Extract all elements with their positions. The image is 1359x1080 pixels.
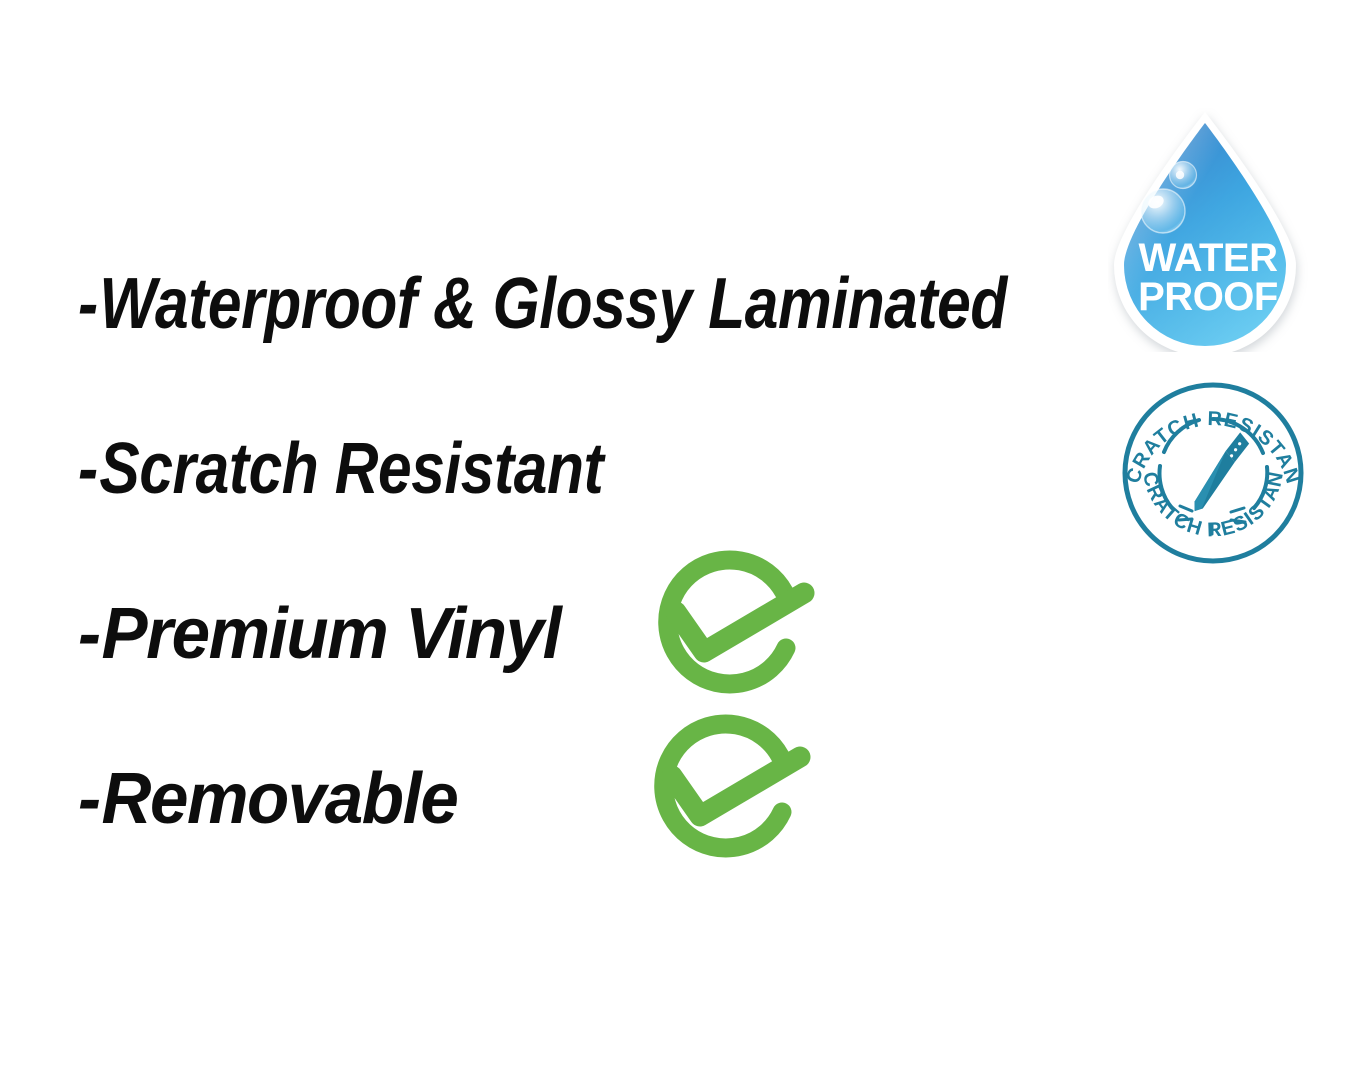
feature-line-removable: -Removable bbox=[78, 763, 457, 835]
bullet-dash: - bbox=[78, 763, 100, 835]
feature-line-premium-vinyl: -Premium Vinyl bbox=[78, 598, 560, 670]
bubble-large-icon bbox=[1141, 189, 1185, 233]
bullet-dash: - bbox=[78, 598, 100, 670]
bullet-dash: - bbox=[78, 433, 98, 505]
scratch-resistant-badge: SCRATCH RESISTANT SCRATCH RESISTANT bbox=[1114, 382, 1312, 564]
feature-line-scratch-resistant: -Scratch Resistant bbox=[78, 433, 603, 505]
feature-line-waterproof-glossy-laminated: -Waterproof & Glossy Laminated bbox=[78, 268, 1007, 340]
feature-label: Waterproof & Glossy Laminated bbox=[99, 264, 1007, 344]
check-circle-icon bbox=[636, 548, 832, 724]
feature-label: Premium Vinyl bbox=[102, 594, 561, 674]
waterproof-badge: WATER PROOF bbox=[1108, 108, 1308, 352]
bubble-small-highlight bbox=[1176, 171, 1184, 179]
scratch-resistant-stamp-icon: SCRATCH RESISTANT SCRATCH RESISTANT bbox=[1114, 382, 1312, 564]
feature-label: Scratch Resistant bbox=[99, 429, 603, 509]
checkmark-removable bbox=[632, 712, 828, 888]
water-drop-icon: WATER PROOF bbox=[1108, 108, 1308, 352]
waterproof-line2: PROOF bbox=[1138, 275, 1278, 319]
product-feature-graphic: -Waterproof & Glossy Laminated -Scratch … bbox=[0, 0, 1359, 1080]
knife-icon bbox=[1192, 426, 1252, 521]
check-circle-icon bbox=[632, 712, 828, 888]
feature-label: Removable bbox=[102, 759, 458, 839]
waterproof-line1: WATER bbox=[1139, 236, 1279, 280]
checkmark-premium-vinyl bbox=[636, 548, 832, 724]
bullet-dash: - bbox=[78, 268, 98, 340]
